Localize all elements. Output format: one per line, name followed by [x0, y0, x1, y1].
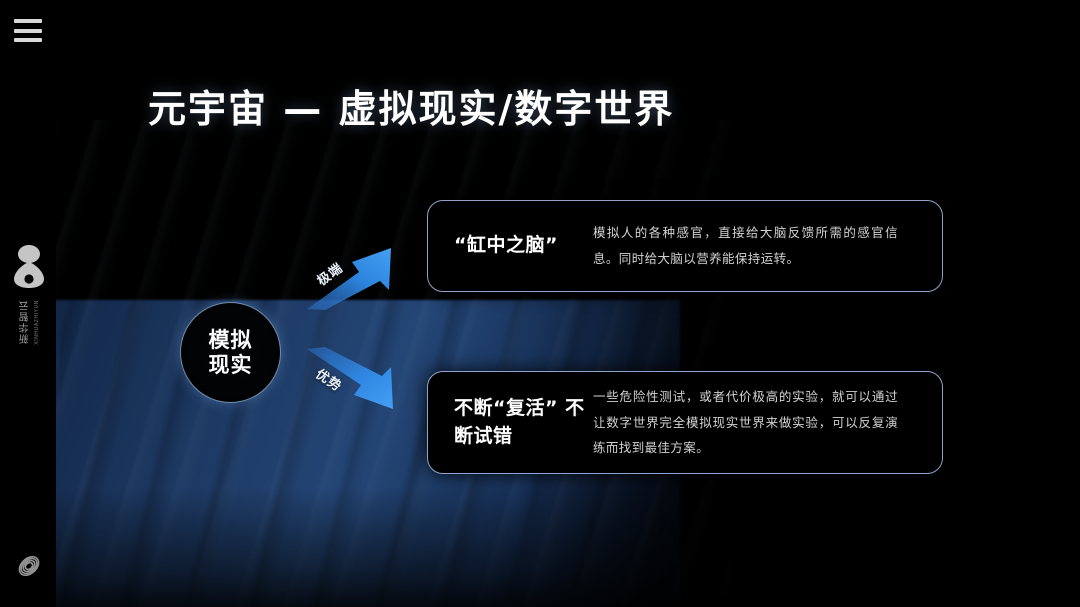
brand-name-en: XINHUAZHIYUN [34, 300, 40, 346]
hamburger-menu-icon[interactable] [14, 19, 42, 42]
card-2-body: 一些危险性测试，或者代价极高的实验，就可以通过让数字世界完全模拟现实世界来做实验… [593, 384, 942, 461]
spiral-knot-logo-icon [12, 549, 46, 583]
root-node-line-1: 模拟 [209, 328, 253, 352]
card-2-heading: 不断“复活” 不断试错 [428, 395, 593, 450]
brand-logo: 新华智云 XINHUAZHIYUN [7, 243, 51, 364]
brand-name-cn: 新华智云 [18, 300, 33, 344]
hamburger-bar-3 [14, 38, 42, 42]
hourglass-figure-logo-icon [9, 243, 49, 289]
hamburger-bar-2 [14, 29, 42, 33]
hamburger-bar-1 [14, 19, 42, 23]
diagram-root-node[interactable]: 模拟 现实 [180, 302, 281, 403]
card-1-body: 模拟人的各种感官，直接给大脑反馈所需的感官信息。同时给大脑以营养能保持运转。 [593, 220, 942, 271]
slide-canvas: 新华智云 XINHUAZHIYUN 元宇宙 — 虚拟现实/数字世界 模拟 现实 [0, 0, 1080, 607]
bottom-vignette [0, 487, 1080, 607]
brand-text: 新华智云 XINHUAZHIYUN [7, 300, 51, 364]
branch-card-brain-in-vat[interactable]: “缸中之脑” 模拟人的各种感官，直接给大脑反馈所需的感官信息。同时给大脑以营养能… [427, 200, 943, 292]
root-node-line-2: 现实 [209, 353, 253, 377]
page-title: 元宇宙 — 虚拟现实/数字世界 [148, 78, 674, 133]
branch-card-trial-and-error[interactable]: 不断“复活” 不断试错 一些危险性测试，或者代价极高的实验，就可以通过让数字世界… [427, 371, 943, 474]
card-1-heading: “缸中之脑” [428, 232, 593, 260]
